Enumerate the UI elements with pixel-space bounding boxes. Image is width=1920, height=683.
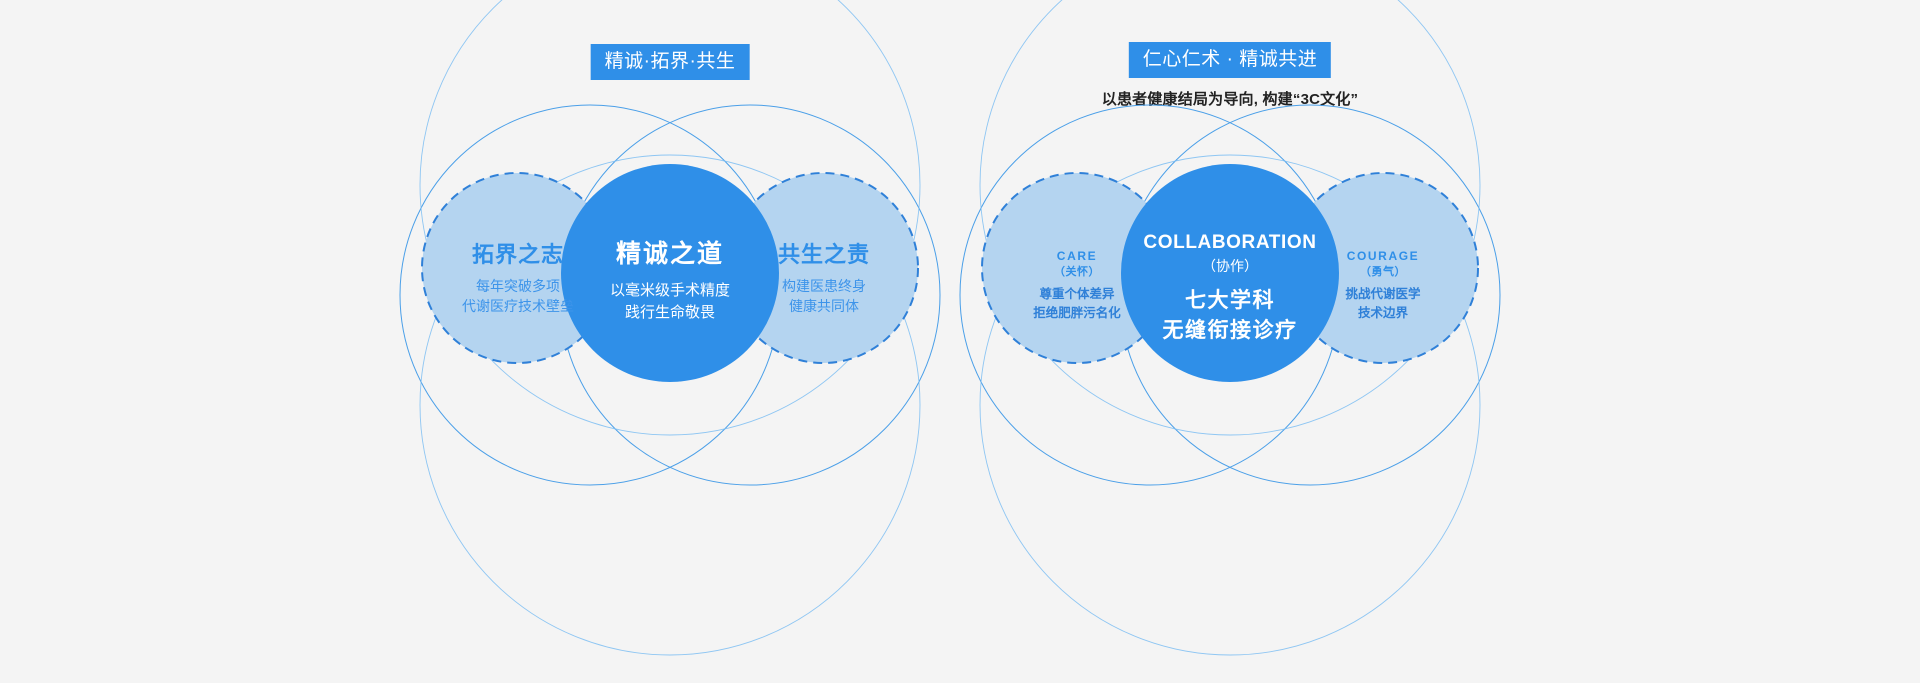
badge-left: 精诚·拓界·共生	[591, 44, 750, 80]
center-title-cn: （协作）	[1110, 257, 1350, 276]
center-title-en: COLLABORATION	[1110, 230, 1350, 256]
center-text: COLLABORATION （协作） 七大学科 无缝衔接诊疗	[1110, 230, 1350, 346]
center-desc-line1: 七大学科	[1110, 286, 1350, 316]
center-text: 精诚之道 以毫米级手术精度 践行生命敬畏	[560, 238, 780, 325]
badge-right: 仁心仁术 · 精诚共进	[1129, 42, 1331, 78]
center-title: 精诚之道	[560, 238, 780, 272]
center-desc-line2: 无缝衔接诊疗	[1110, 316, 1350, 346]
center-desc-line1: 以毫米级手术精度	[560, 280, 780, 303]
center-desc-line2: 践行生命敬畏	[560, 302, 780, 325]
diagram-right: 仁心仁术 · 精诚共进 以患者健康结局为导向, 构建“3C文化” CARE （关…	[880, 0, 1580, 683]
